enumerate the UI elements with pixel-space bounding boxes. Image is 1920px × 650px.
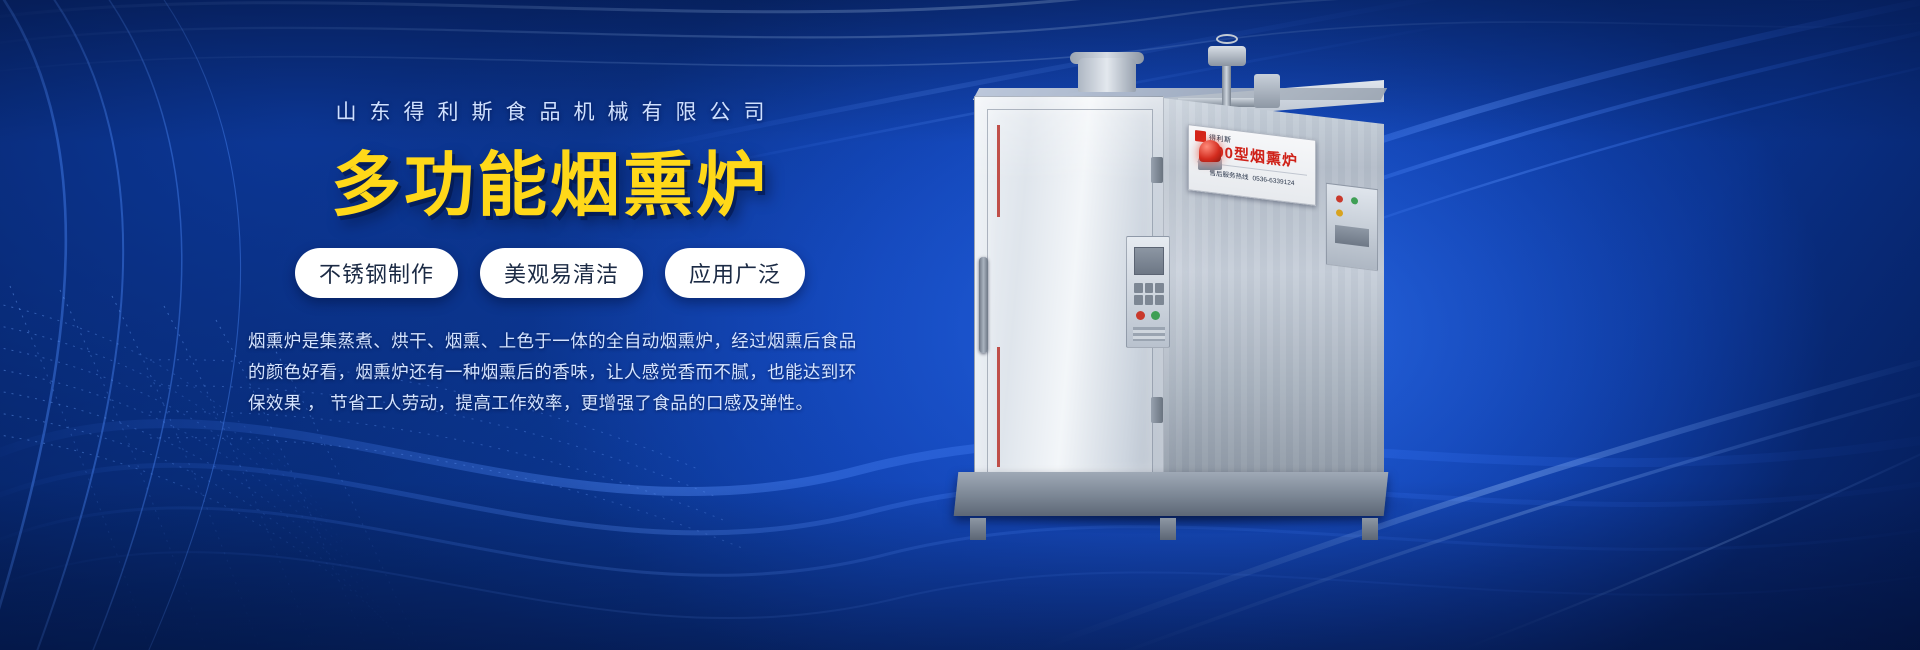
panel-button[interactable] [1134,283,1143,293]
description-line-2: 的颜色好看，烟熏炉还有一种烟熏后的香味，让人感觉香而不腻，也能达到环 [248,357,808,388]
aux-display [1335,225,1369,247]
side-control-box [1326,183,1378,271]
product-image-smokehouse-oven: 得利斯 500型烟熏炉 售后服务热线 0536-6339124 [930,40,1490,540]
control-panel-display [1134,247,1164,275]
panel-indicator-red [1136,311,1145,320]
aux-indicator-red [1336,195,1343,203]
panel-button[interactable] [1155,295,1164,305]
description-line-3: 保效果 ， 节省工人劳动，提高工作效率，更增强了食品的口感及弹性。 [248,388,808,419]
nameplate-service-phone: 0536-6339124 [1253,175,1295,187]
oven-foot-left [970,518,986,540]
aux-indicator-green [1351,197,1358,205]
description-line-1: 烟熏炉是集蒸煮、烘干、烟熏、上色于一体的全自动烟熏炉，经过烟熏后食品 [248,326,808,357]
door-handle[interactable] [979,257,988,353]
chimney-stack [1078,58,1136,92]
feature-pill-stainless[interactable]: 不锈钢制作 [295,248,458,298]
door-hinge-top [1151,157,1163,183]
aux-indicator-grey [1351,211,1358,219]
control-panel-buttons[interactable] [1134,283,1164,305]
panel-button[interactable] [1134,295,1143,305]
panel-vent-strip [1133,327,1165,341]
oven-foot-right [1362,518,1378,540]
page-title: 多功能烟熏炉 [240,148,860,222]
panel-button[interactable] [1155,283,1164,293]
door-hinge-bottom [1151,397,1163,423]
door-marking-lower [997,347,1000,467]
feature-pill-easyclean[interactable]: 美观易清洁 [480,248,643,298]
panel-indicator-green [1151,311,1160,320]
feature-pill-wideuse[interactable]: 应用广泛 [665,248,805,298]
valve-handwheel [1216,34,1238,44]
company-name: 山东得利斯食品机械有限公司 [240,96,860,126]
product-description: 烟熏炉是集蒸煮、烘干、烟熏、上色于一体的全自动烟熏炉，经过烟熏后食品 的颜色好看… [248,326,808,419]
door-marking-upper [997,125,1000,217]
feature-pill-list: 不锈钢制作 美观易清洁 应用广泛 [240,248,860,298]
control-panel[interactable] [1126,236,1170,348]
panel-button[interactable] [1145,283,1154,293]
pipe-junction-box [1254,74,1280,108]
oven-foot-mid [1160,518,1176,540]
panel-button[interactable] [1145,295,1154,305]
valve-body [1208,46,1246,66]
promo-banner: 山东得利斯食品机械有限公司 多功能烟熏炉 不锈钢制作 美观易清洁 应用广泛 烟熏… [0,0,1920,650]
banner-text-block: 山东得利斯食品机械有限公司 多功能烟熏炉 不锈钢制作 美观易清洁 应用广泛 烟熏… [240,96,860,420]
aux-indicator-amber [1336,209,1343,217]
oven-base-plate [954,472,1389,516]
warning-beacon-light [1199,140,1221,162]
